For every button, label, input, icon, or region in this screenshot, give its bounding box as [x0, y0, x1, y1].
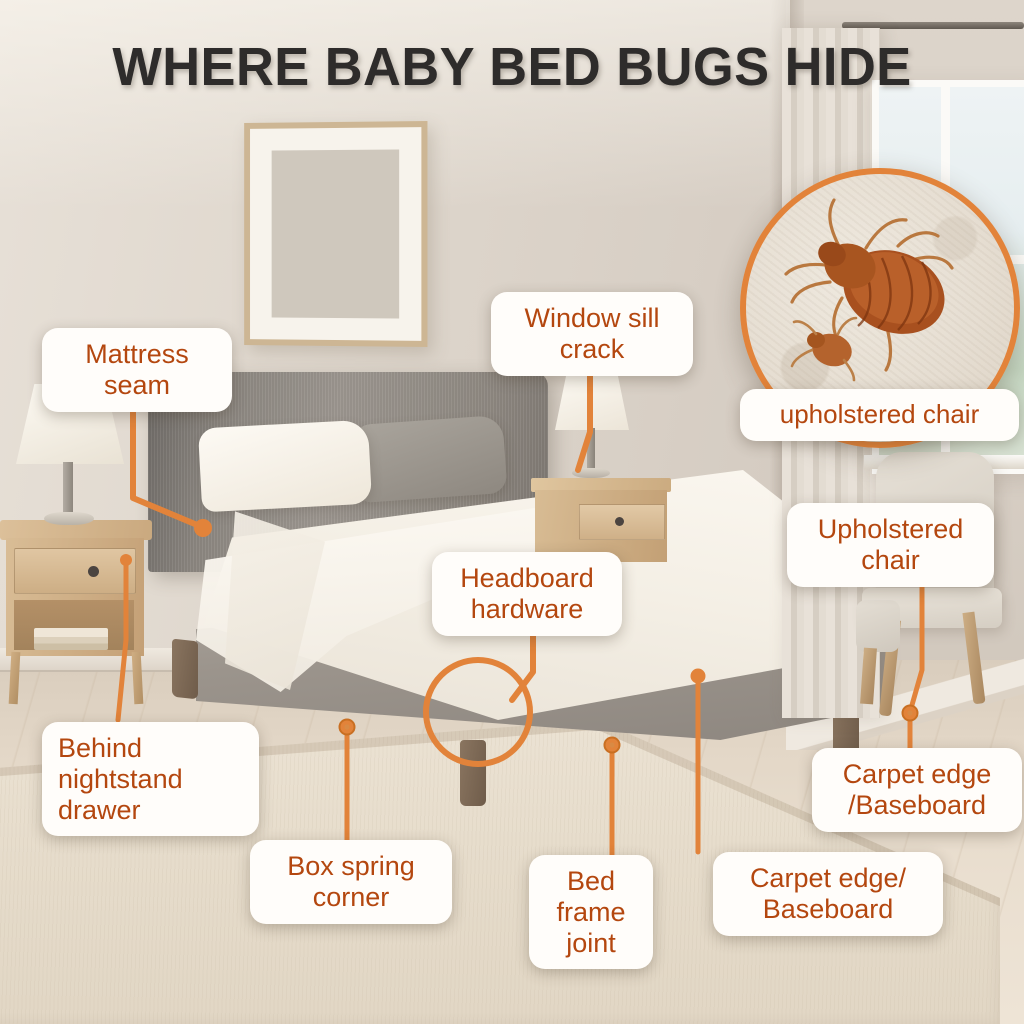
nightstand-left-leg-b	[132, 652, 144, 704]
lamp-right-shade	[555, 372, 629, 430]
label-carpet-edge-baseboard-right[interactable]: Carpet edge /Baseboard	[812, 748, 1022, 832]
label-mattress-seam[interactable]: Mattress seam	[42, 328, 232, 412]
lamp-right-base	[572, 468, 610, 478]
label-window-sill-crack[interactable]: Window sill crack	[491, 292, 693, 376]
label-magnifier-upholstered-chair[interactable]: upholstered chair	[740, 389, 1019, 441]
nightstand-left-knob	[88, 566, 99, 577]
label-box-spring-corner[interactable]: Box spring corner	[250, 840, 452, 924]
stacked-books	[34, 628, 108, 650]
chair-armrest	[856, 600, 900, 652]
lamp-left-neck	[63, 462, 73, 516]
lamp-left-base	[44, 512, 94, 525]
lamp-right-neck	[587, 428, 595, 472]
framed-wall-art	[244, 121, 427, 347]
bug-nymph	[792, 318, 856, 380]
infographic-canvas: WHERE BABY BED BUGS HIDE	[0, 0, 1024, 1024]
bed-leg-front	[460, 740, 486, 806]
label-carpet-edge-baseboard-bed[interactable]: Carpet edge/ Baseboard	[713, 852, 943, 936]
nightstand-right-knob	[615, 517, 624, 526]
page-title: WHERE BABY BED BUGS HIDE	[15, 36, 1008, 98]
bed-leg-left	[172, 639, 198, 700]
art-mat	[272, 149, 400, 318]
nightstand-left-drawer	[14, 548, 136, 594]
label-bed-frame-joint[interactable]: Bed frame joint	[529, 855, 653, 969]
pillow-grey	[352, 415, 507, 503]
label-upholstered-chair[interactable]: Upholstered chair	[787, 503, 994, 587]
label-headboard-hardware[interactable]: Headboard hardware	[432, 552, 622, 636]
nightstand-left	[0, 520, 152, 690]
label-behind-nightstand-drawer[interactable]: Behind nightstand drawer	[42, 722, 259, 836]
pillow-white	[198, 420, 372, 513]
